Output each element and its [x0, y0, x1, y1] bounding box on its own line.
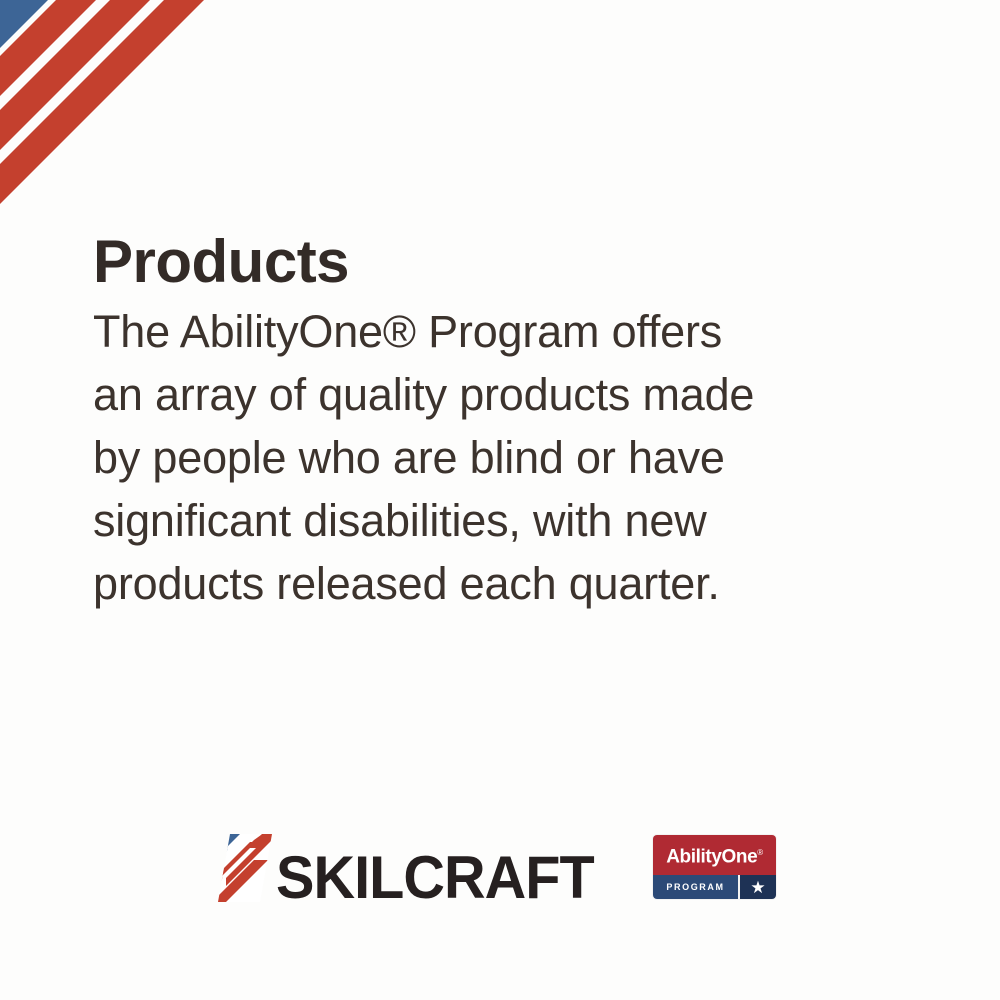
abilityone-wordmark-text: AbilityOne	[666, 847, 757, 868]
abilityone-logo: AbilityOne® PROGRAM ★	[653, 835, 776, 899]
skilcraft-wordmark: SKILCRAFT	[276, 850, 594, 906]
product-info-card: Products The AbilityOne® Program offers …	[0, 0, 1000, 1000]
star-icon: ★	[750, 879, 765, 896]
body-line: products released each quarter.	[93, 552, 863, 615]
body-line: The AbilityOne® Program offers	[93, 300, 863, 363]
skilcraft-stripes-icon	[216, 832, 274, 904]
abilityone-wordmark: AbilityOne®	[666, 843, 763, 866]
logo-row: SKILCRAFT AbilityOne® PROGRAM ★	[0, 826, 1000, 916]
abilityone-logo-bottom: PROGRAM ★	[653, 875, 776, 899]
body-paragraph: The AbilityOne® Program offers an array …	[93, 300, 863, 615]
body-line: significant disabilities, with new	[93, 489, 863, 552]
page-title: Products	[93, 230, 349, 293]
abilityone-logo-top: AbilityOne®	[653, 835, 776, 875]
corner-flag-red-stripes	[0, 0, 214, 214]
body-line: by people who are blind or have	[93, 426, 863, 489]
skilcraft-logo: SKILCRAFT	[216, 826, 607, 906]
registered-trademark-icon: ®	[757, 848, 763, 857]
abilityone-star-box: ★	[738, 875, 776, 899]
body-line: an array of quality products made	[93, 363, 863, 426]
corner-flag-blue-block	[0, 0, 58, 58]
abilityone-program-label: PROGRAM	[653, 875, 738, 899]
skilcraft-flag-corner-decoration	[0, 0, 260, 260]
